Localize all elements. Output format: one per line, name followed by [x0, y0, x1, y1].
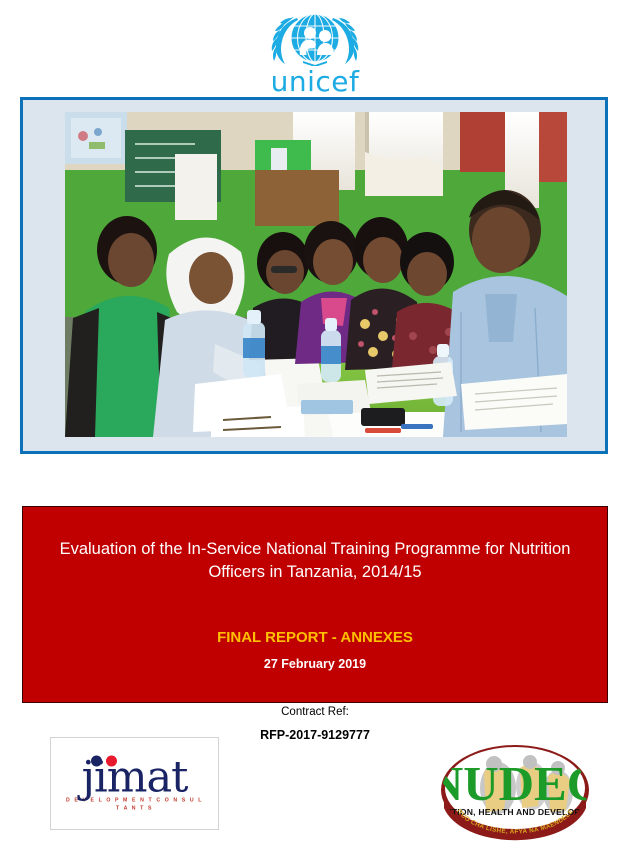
- unicef-wordmark: unicef: [271, 68, 360, 96]
- unicef-globe-mother-child-icon: [267, 8, 363, 66]
- jimat-navy-dot-icon: [91, 755, 102, 766]
- workshop-photo-illustration: [65, 112, 567, 437]
- jimat-logo: jimat D E V E L O P M E N T C O N S U L …: [50, 737, 219, 830]
- jimat-wordmark: jimat: [65, 755, 205, 799]
- nudec-logo: NUDEC NUTRITION, HEALTH AND DEVELOPMENT …: [440, 742, 590, 846]
- nudec-emblem-icon: NUDEC NUTRITION, HEALTH AND DEVELOPMENT …: [440, 742, 590, 846]
- cover-photo-frame: [20, 97, 608, 454]
- report-phase-label: FINAL REPORT - ANNEXES: [23, 584, 607, 647]
- jimat-red-dot-icon: [106, 755, 117, 766]
- report-title: Evaluation of the In-Service National Tr…: [23, 507, 607, 584]
- report-date: 27 February 2019: [23, 647, 607, 672]
- report-title-box: Evaluation of the In-Service National Tr…: [22, 506, 608, 703]
- nudec-acronym-text: NUDEC: [440, 756, 590, 811]
- contract-ref-label: Contract Ref:: [0, 705, 630, 720]
- unicef-logo: unicef: [0, 8, 630, 96]
- workshop-photo: [65, 112, 567, 437]
